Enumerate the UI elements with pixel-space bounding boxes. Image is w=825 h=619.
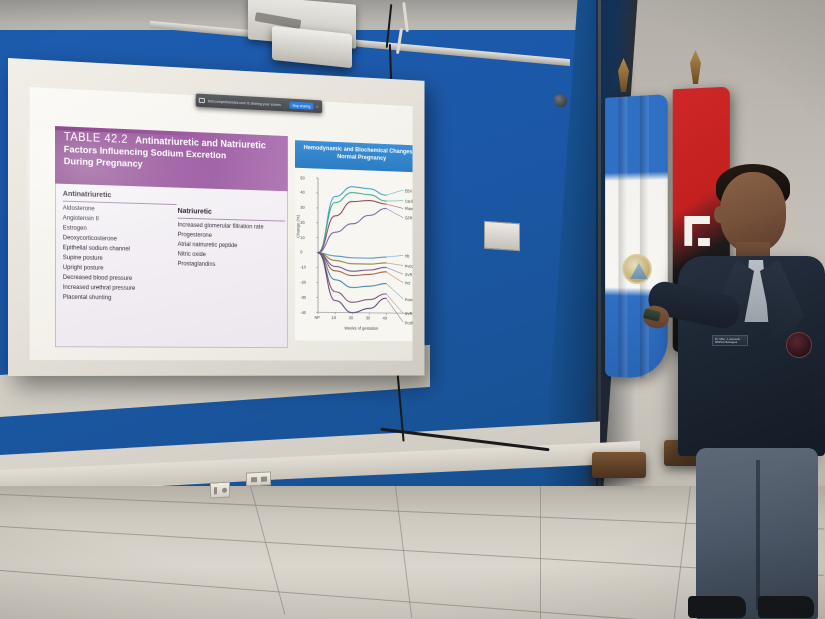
slide-table-body: Antinatriuretic AldosteroneAngiotensin I… [55, 184, 288, 349]
chart-ytick: -10 [300, 265, 306, 270]
shoe-right [758, 596, 814, 618]
chart-xlabel: Weeks of gestation [344, 326, 378, 331]
chart-ytick: -20 [300, 280, 306, 285]
chart-plot-area: Change (%) Weeks of gestation 5040302010… [295, 168, 413, 342]
slide-table-header: TABLE 42.2 Antinatriuretic and Natriuret… [55, 126, 288, 191]
chart-ytick: 40 [300, 190, 304, 195]
chart-legend-label: GFR [405, 216, 413, 221]
chart-legend-label: SVR [405, 272, 412, 277]
projector-lens [554, 93, 567, 107]
chart-ytick: 0 [300, 250, 302, 255]
trouser-seam [756, 460, 760, 610]
name-badge: Dr. MSc. J. Acevedo MINSA Nicaragua [712, 335, 748, 346]
chart-ytick: -40 [300, 310, 306, 315]
chart-svg [295, 168, 413, 342]
wall-junction-box [484, 221, 520, 252]
chart-xtick: 30 [366, 316, 370, 321]
table-item: Placental shunting [63, 293, 177, 304]
share-status-text: bidi.comprehensiva.com is sharing your s… [208, 99, 287, 107]
chart-legend-label: Hct [405, 281, 410, 286]
chart-legend-label: Plasma volume [405, 207, 413, 212]
chart-legend-label: Posm [405, 297, 413, 302]
chart-xtick: NP [314, 315, 319, 320]
name-badge-line2: MINSA Nicaragua [715, 341, 745, 344]
chart-legend-label: PvO2 [405, 264, 413, 269]
presenter: Dr. MSc. J. Acevedo MINSA Nicaragua [640, 160, 825, 619]
slide-chart: Hemodynamic and Biochemical Changes in N… [295, 140, 413, 348]
table-column-antinatriuretic: Antinatriuretic AldosteroneAngiotensin I… [63, 188, 177, 305]
power-outlet [210, 481, 230, 498]
chart-legend-label: EBV [405, 188, 412, 193]
close-icon[interactable]: × [316, 104, 319, 109]
table-item: Prostaglandins [178, 260, 286, 272]
flag-stand-nicaragua [592, 452, 646, 478]
classroom-photo: TABLE 42.2 Antinatriuretic and Natriuret… [0, 0, 825, 619]
chart-ytick: 20 [300, 220, 304, 225]
chart-ytick: 30 [300, 205, 304, 210]
head [720, 172, 786, 252]
chart-legend-label: Cardiac output [405, 199, 413, 204]
chart-legend-label: SVR [405, 312, 412, 317]
data-outlet [246, 471, 271, 486]
ear [714, 206, 725, 223]
shoulder-crest-patch [786, 332, 812, 358]
stop-sharing-button[interactable]: Stop sharing [290, 102, 314, 110]
column-header-natriuretic: Natriuretic [178, 205, 286, 222]
chart-ytick: 10 [300, 235, 304, 240]
screen-share-icon [199, 98, 205, 103]
chart-legend-label: Hb [405, 254, 410, 259]
shoe-left [688, 596, 746, 618]
chart-legend-label: Pcolloid [405, 320, 413, 325]
chart-ytick: 50 [300, 175, 304, 180]
slide-surface: TABLE 42.2 Antinatriuretic and Natriuret… [30, 87, 413, 361]
chart-xtick: 40 [383, 316, 387, 321]
chart-xtick: 10 [332, 315, 336, 320]
chart-xtick: 20 [349, 315, 353, 320]
column-header-antinatriuretic: Antinatriuretic [63, 188, 177, 205]
chart-ytick: -30 [300, 295, 306, 300]
table-column-natriuretic: Natriuretic Increased glomerular filtrat… [178, 191, 286, 271]
